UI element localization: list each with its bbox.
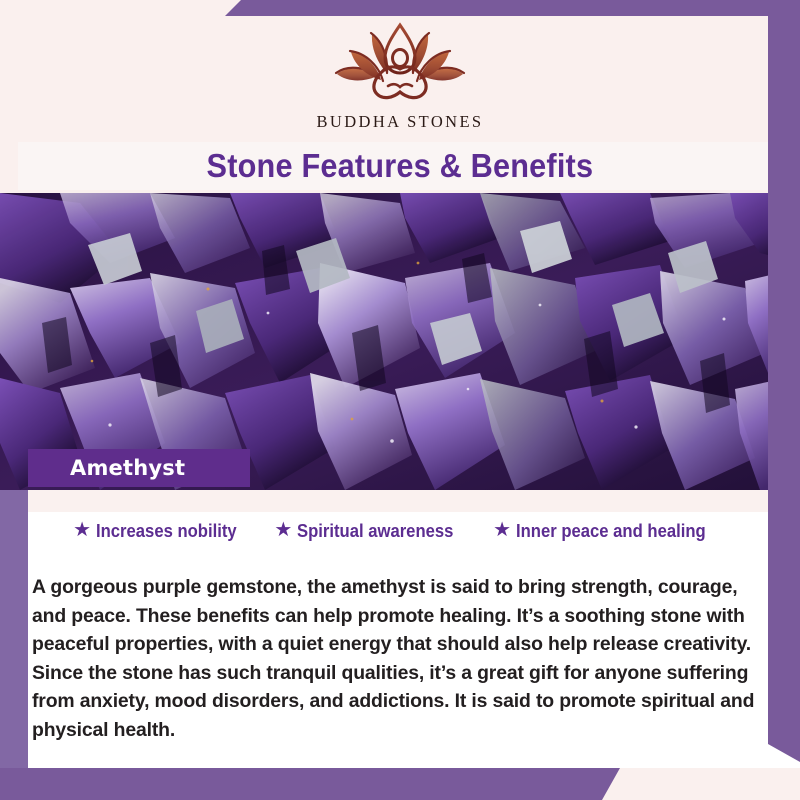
benefit-item: ★ Inner peace and healing <box>493 520 727 542</box>
page-title-band: Stone Features & Benefits <box>18 142 782 190</box>
brand-name: BUDDHA STONES <box>0 112 800 132</box>
content-top-strip <box>0 490 800 512</box>
frame-border-bottom <box>0 768 620 800</box>
frame-border-left <box>0 490 28 800</box>
frame-border-right <box>768 0 800 762</box>
stone-name: Amethyst <box>28 456 203 480</box>
benefit-label: Inner peace and healing <box>516 520 706 542</box>
benefit-item: ★ Increases nobility <box>73 520 252 542</box>
benefit-label: Spiritual awareness <box>297 520 453 542</box>
product-info-card: BUDDHA STONES Stone Features & Benefits <box>0 0 800 800</box>
benefits-list: ★ Increases nobility ★ Spiritual awarene… <box>0 520 800 542</box>
brand-logo: BUDDHA STONES <box>0 22 800 132</box>
star-icon: ★ <box>73 520 91 540</box>
benefit-item: ★ Spiritual awareness <box>274 520 471 542</box>
benefit-label: Increases nobility <box>96 520 237 542</box>
lotus-meditation-icon <box>325 22 475 108</box>
star-icon: ★ <box>274 520 292 540</box>
content-section: ★ Increases nobility ★ Spiritual awarene… <box>0 512 800 768</box>
header-section: BUDDHA STONES Stone Features & Benefits <box>0 0 800 193</box>
star-icon: ★ <box>493 520 511 540</box>
frame-border-top <box>225 0 800 16</box>
stone-name-banner: Amethyst <box>28 449 250 487</box>
stone-description: A gorgeous purple gemstone, the amethyst… <box>32 573 772 744</box>
amethyst-hero-image <box>0 193 800 490</box>
page-title: Stone Features & Benefits <box>207 147 594 185</box>
